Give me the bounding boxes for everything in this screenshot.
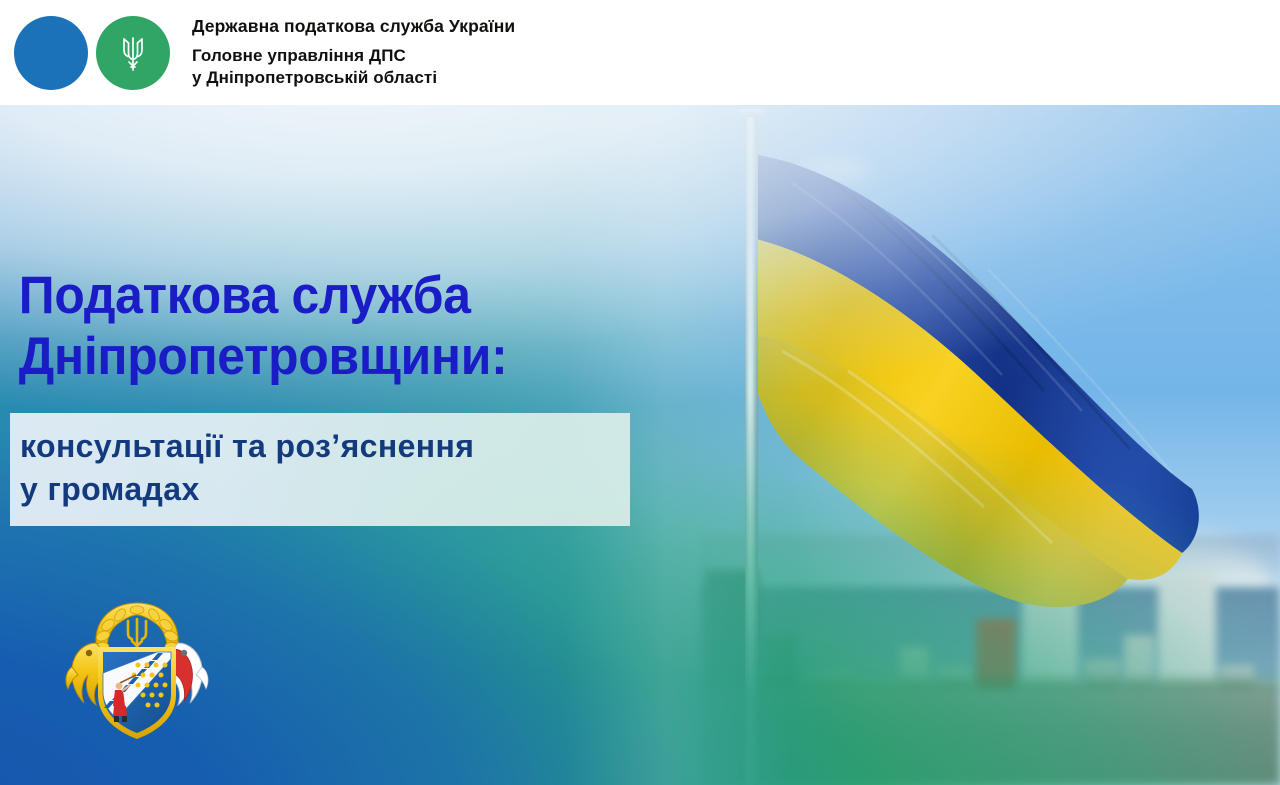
flagpole-cap xyxy=(739,109,764,117)
header-title-line2: Головне управління ДПС xyxy=(192,45,515,67)
organization-logo[interactable] xyxy=(14,16,170,90)
ground xyxy=(700,689,1280,785)
trident-icon xyxy=(96,16,170,90)
header-title-line1: Державна податкова служба України xyxy=(192,17,515,36)
subtitle-band: консультації та роз’яснення у громадах xyxy=(10,413,630,526)
flagpole xyxy=(745,115,758,785)
ukrainian-flag xyxy=(752,139,1222,619)
hero-text-block: Податкова служба Дніпропетровщини: консу… xyxy=(0,265,700,388)
header-organization-text: Державна податкова служба України Головн… xyxy=(192,17,515,89)
blue-circle-icon xyxy=(14,16,88,90)
site-header: Державна податкова служба України Головн… xyxy=(0,0,1280,105)
dnipropetrovsk-oblast-coat-of-arms xyxy=(62,595,212,745)
shield xyxy=(98,647,176,739)
banner: Державна податкова служба України Головн… xyxy=(0,0,1280,785)
page-subtitle: консультації та роз’яснення у громадах xyxy=(10,425,630,510)
trident-icon xyxy=(128,619,146,651)
hero-stage: Податкова служба Дніпропетровщини: консу… xyxy=(0,105,1280,785)
header-title-line3: у Дніпропетровській області xyxy=(192,67,515,89)
page-title: Податкова служба Дніпропетровщини: xyxy=(0,265,658,388)
